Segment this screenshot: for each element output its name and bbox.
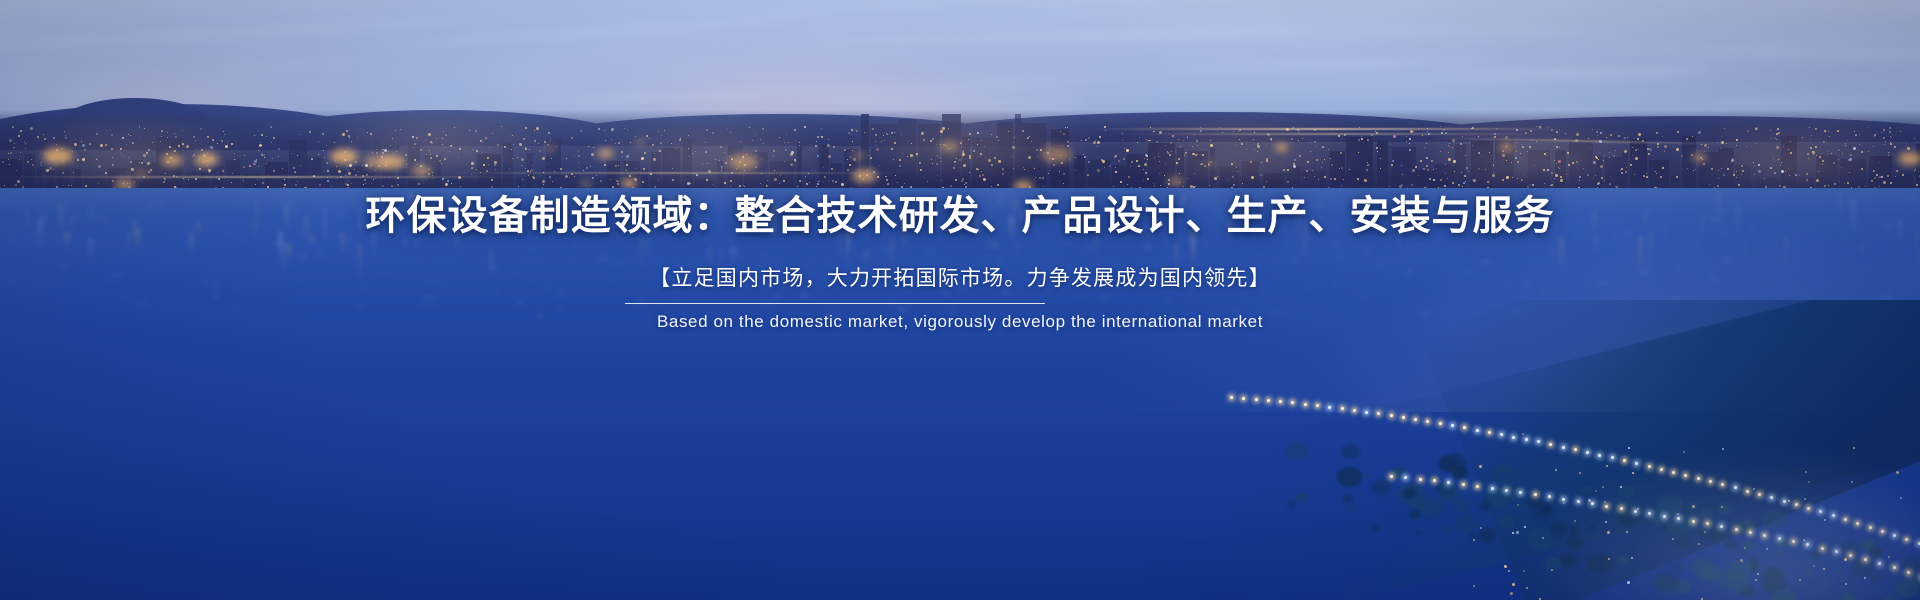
banner-copy: 环保设备制造领域：整合技术研发、产品设计、生产、安装与服务 【立足国内市场，大力… <box>0 0 1920 600</box>
banner-english-tagline: Based on the domestic market, vigorously… <box>0 313 1920 330</box>
banner-subline: 【立足国内市场，大力开拓国际市场。力争发展成为国内领先】 <box>0 268 1920 289</box>
hero-banner: 环保设备制造领域：整合技术研发、产品设计、生产、安装与服务 【立足国内市场，大力… <box>0 0 1920 600</box>
banner-divider <box>625 303 1045 304</box>
banner-headline: 环保设备制造领域：整合技术研发、产品设计、生产、安装与服务 <box>0 196 1920 236</box>
